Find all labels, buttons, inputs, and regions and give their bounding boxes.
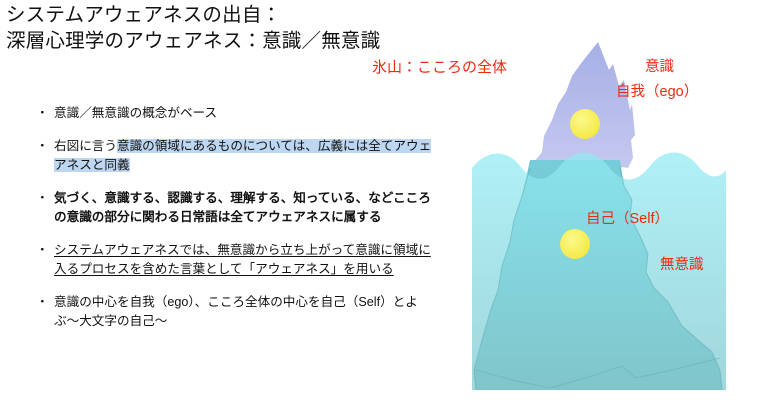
list-item: ・ 意識の中心を自我（ego）、こころ全体の中心を自己（Self）とよぶ〜大文字… xyxy=(34,293,442,332)
list-item: ・ 右図に言う意識の領域にあるものについては、広義には全てアウェアネスと同義 xyxy=(34,137,442,176)
bullet-text: 気づく、意識する、認識する、理解する、知っている、などこころの意識の部分に関わる… xyxy=(54,189,442,228)
title-line-1: システムアウェアネスの出自： xyxy=(6,2,476,28)
bullet-marker: ・ xyxy=(36,137,49,157)
annotation-ego: 自我（ego） xyxy=(616,83,698,101)
bullet-marker: ・ xyxy=(36,293,49,313)
bullet-text: システムアウェアネスでは、無意識から立ち上がって意識に領域に入るプロセスを含めた… xyxy=(54,241,442,280)
annotation-iceberg-title: 氷山：こころの全体 xyxy=(372,59,507,77)
list-item: ・ 気づく、意識する、認識する、理解する、知っている、などこころの意識の部分に関… xyxy=(34,189,442,228)
annotation-unconscious: 無意識 xyxy=(660,256,704,274)
ego-marker-dot xyxy=(570,109,600,139)
bullet-run: 右図に言う xyxy=(54,139,117,153)
bullet-run: 意識の中心を自我（ego）、こころ全体の中心を自己（Self）とよぶ〜大文字の自… xyxy=(54,295,418,329)
bullet-list: ・ 意識／無意識の概念がベース ・ 右図に言う意識の領域にあるものについては、広… xyxy=(34,104,442,332)
bullet-text: 意識／無意識の概念がベース xyxy=(54,104,442,124)
bullet-text: 右図に言う意識の領域にあるものについては、広義には全てアウェアネスと同義 xyxy=(54,137,442,176)
bullet-run: 意識／無意識の概念がベース xyxy=(54,106,217,120)
page-title: システムアウェアネスの出自： 深層心理学のアウェアネス：意識／無意識 xyxy=(6,2,476,54)
bullet-run: システムアウェアネスでは、無意識から立ち上がって意識に領域に入るプロセスを含めた… xyxy=(54,243,431,277)
bullet-marker: ・ xyxy=(36,104,49,124)
annotation-self: 自己（Self） xyxy=(586,210,669,228)
annotation-consciousness: 意識 xyxy=(645,58,674,76)
title-line-2: 深層心理学のアウェアネス：意識／無意識 xyxy=(6,28,476,54)
bullet-marker: ・ xyxy=(36,189,49,209)
list-item: ・ システムアウェアネスでは、無意識から立ち上がって意識に領域に入るプロセスを含… xyxy=(34,241,442,280)
bullet-run: 気づく、意識する、認識する、理解する、知っている、などこころの意識の部分に関わる… xyxy=(54,191,431,225)
list-item: ・ 意識／無意識の概念がベース xyxy=(34,104,442,124)
self-marker-dot xyxy=(560,229,590,259)
bullet-text: 意識の中心を自我（ego）、こころ全体の中心を自己（Self）とよぶ〜大文字の自… xyxy=(54,293,442,332)
bullet-marker: ・ xyxy=(36,241,49,261)
